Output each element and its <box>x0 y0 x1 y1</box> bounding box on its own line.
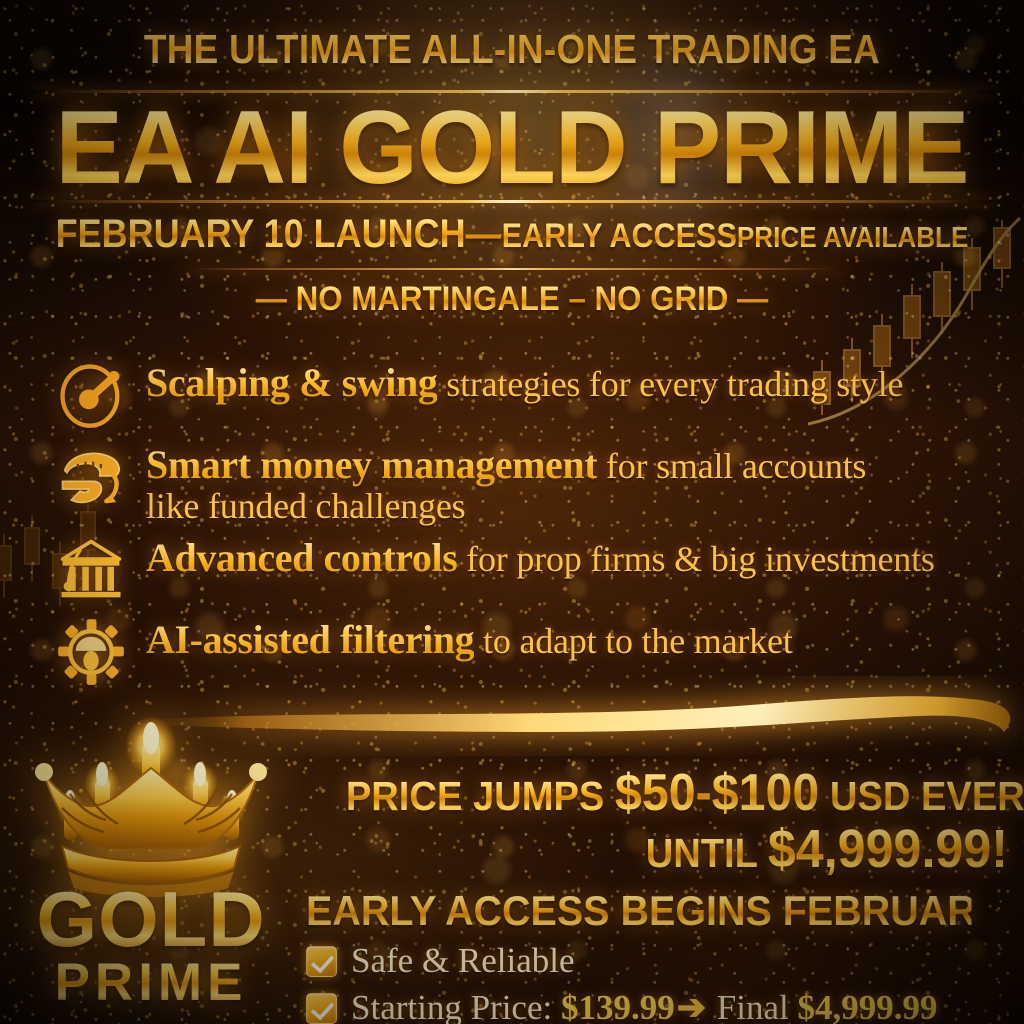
feature-line-1: Advanced controls for prop firms & big i… <box>146 558 935 575</box>
benefit-row-pricing: Starting Price: $139.99➔ Final $4,999.99 <box>306 988 1014 1024</box>
feature-item-scalping-swing: Scalping & swing strategies for every tr… <box>52 358 1000 432</box>
speedometer-icon <box>52 358 130 432</box>
tagline-no-martingale-no-grid: — NO MARTINGALE – NO GRID — <box>41 280 983 319</box>
feature-item-money-management: Smart money management for small account… <box>52 440 1000 525</box>
launch-date-label: FEBRUARY 10 LAUNCH <box>56 212 466 256</box>
price-line-1: PRICE JUMPS $50-$100 USD EVERY DAY <box>346 766 1008 821</box>
launch-dash: — <box>466 212 502 256</box>
money-management-icon <box>52 440 130 514</box>
feature-line-1: Smart money management for small account… <box>146 465 866 482</box>
price-jump-amount: $50-$100 <box>615 764 819 822</box>
early-access-heading: EARLY ACCESS BEGINS FEBRUARY 10! <box>306 888 972 934</box>
feature-text: Scalping & swing strategies for every tr… <box>146 358 903 405</box>
feature-item-advanced-controls: Advanced controls for prop firms & big i… <box>52 533 1000 607</box>
promo-poster: THE ULTIMATE ALL-IN-ONE TRADING EA EA AI… <box>0 0 1024 1024</box>
final-price-value: $4,999.99 <box>798 988 938 1024</box>
until-label: UNTIL <box>646 830 768 876</box>
price-jumps-label: PRICE JUMPS <box>346 773 615 819</box>
page-title: EA AI GOLD PRIME <box>15 96 1008 200</box>
feature-item-ai-filtering: AI-assisted filtering to adapt to the ma… <box>52 615 1000 689</box>
pricing-label: Starting Price: $139.99➔ Final $4,999.99 <box>351 988 938 1024</box>
early-access-block: EARLY ACCESS BEGINS FEBRUARY 10! Safe & … <box>306 888 1014 1024</box>
feature-text: Smart money management for small account… <box>146 440 1000 525</box>
benefit-row-safe-reliable: Safe & Reliable <box>306 941 1014 981</box>
feature-strong-text: AI-assisted filtering <box>146 617 474 662</box>
starting-price-value: $139.99 <box>561 988 675 1024</box>
feature-regular-text: for prop firms & big investments <box>457 539 934 579</box>
price-escalation-block: PRICE JUMPS $50-$100 USD EVERY DAY UNTIL… <box>296 766 1008 878</box>
feature-regular-text: to adapt to the market <box>474 621 792 661</box>
divider-tagline <box>180 268 844 270</box>
feature-strong-text: Smart money management <box>146 442 597 487</box>
starting-price-label: Starting Price: <box>351 988 561 1024</box>
price-jumps-suffix: USD EVERY DAY <box>819 773 1024 819</box>
logo-word-prime: PRIME <box>8 956 294 1009</box>
launch-line: FEBRUARY 10 LAUNCH—EARLY ACCESSPRICE AVA… <box>51 212 973 257</box>
checkbox-checked-icon <box>306 993 337 1024</box>
checkbox-checked-icon <box>306 946 337 977</box>
logo-wordmark: GOLD PRIME <box>8 884 294 1009</box>
price-available-label: PRICE AVAILABLE <box>737 222 969 254</box>
feature-text: AI-assisted filtering to adapt to the ma… <box>146 615 793 662</box>
final-price-amount: $4,999.99! <box>768 819 1008 879</box>
ai-gear-icon <box>52 615 130 689</box>
early-access-label: EARLY ACCESS <box>502 217 737 255</box>
divider-middle <box>30 200 994 203</box>
arrow-right-icon: ➔ <box>675 988 708 1024</box>
price-line-2: UNTIL $4,999.99! <box>346 821 1008 878</box>
crown-icon <box>22 716 280 901</box>
final-price-label: Final <box>708 988 797 1024</box>
feature-regular-text: for small accounts <box>597 446 866 486</box>
feature-text: Advanced controls for prop firms & big i… <box>146 533 935 580</box>
feature-list: Scalping & swing strategies for every tr… <box>52 358 1000 697</box>
feature-regular-text: strategies for every trading style <box>437 364 903 404</box>
benefit-label: Safe & Reliable <box>351 941 575 981</box>
gold-prime-logo: GOLD PRIME <box>8 716 294 1016</box>
bank-building-icon <box>52 533 130 607</box>
feature-strong-text: Scalping & swing <box>146 360 437 405</box>
feature-line-1: Scalping & swing strategies for every tr… <box>146 383 903 400</box>
feature-line-1: AI-assisted filtering to adapt to the ma… <box>146 640 793 657</box>
logo-word-gold: GOLD <box>8 884 294 956</box>
feature-line-2: like funded challenges <box>146 486 465 526</box>
feature-strong-text: Advanced controls <box>146 535 457 580</box>
eyebrow-headline: THE ULTIMATE ALL-IN-ONE TRADING EA <box>51 26 973 73</box>
